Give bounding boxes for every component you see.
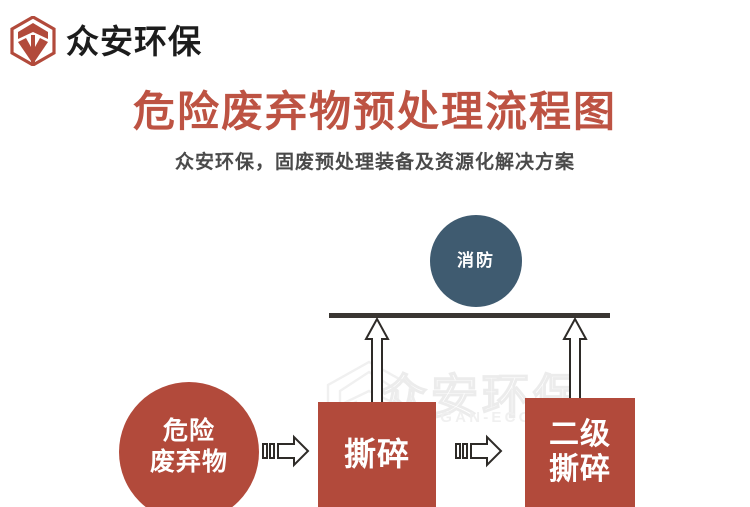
up-arrow-secondary-to-bus-icon <box>562 317 588 405</box>
node-hazardous-waste-label-line1: 危险 <box>163 416 215 445</box>
node-hazardous-waste-label: 危险 废弃物 <box>150 415 228 478</box>
right-arrow-waste-to-shredding-icon <box>262 434 310 468</box>
node-secondary-shredding-label-line2: 撕碎 <box>549 452 611 487</box>
process-flow-diagram: 消防 危险 废弃物 <box>0 0 750 507</box>
node-hazardous-waste-label-line2: 废弃物 <box>150 447 228 476</box>
flowchart-page: 众安环保 危险废弃物预处理流程图 众安环保，固废预处理装备及资源化解决方案 众安… <box>0 0 750 507</box>
node-hazardous-waste[interactable]: 危险 废弃物 <box>119 382 259 507</box>
node-secondary-shredding-label-line1: 二级 <box>549 417 611 452</box>
node-secondary-shredding[interactable]: 二级 撕碎 <box>525 398 635 507</box>
node-shredding[interactable]: 撕碎 <box>318 402 436 507</box>
node-fire-protection[interactable]: 消防 <box>430 215 522 307</box>
node-secondary-shredding-label: 二级 撕碎 <box>549 417 611 488</box>
up-arrow-shredding-to-bus-icon <box>364 317 390 405</box>
node-shredding-label: 撕碎 <box>344 436 410 474</box>
right-arrow-shredding-to-secondary-icon <box>455 434 503 468</box>
node-fire-protection-label: 消防 <box>457 251 495 271</box>
